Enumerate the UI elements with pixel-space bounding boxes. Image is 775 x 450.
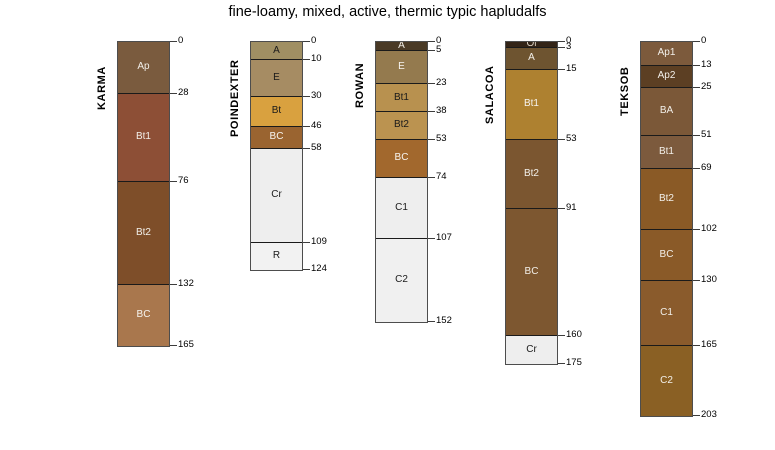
horizon-bt1[interactable]: Bt1	[118, 94, 169, 182]
depth-tick	[303, 59, 310, 60]
depth-label: 30	[311, 90, 322, 101]
depth-label: 25	[701, 81, 712, 92]
depth-tick	[558, 139, 565, 140]
depth-tick	[558, 47, 565, 48]
horizon-bt2[interactable]: Bt2	[641, 169, 692, 230]
depth-tick	[693, 229, 700, 230]
horizon-bt1[interactable]: Bt1	[506, 70, 557, 140]
depth-label: 0	[701, 35, 706, 46]
depth-tick	[693, 345, 700, 346]
depth-label: 23	[436, 77, 447, 88]
horizon-label: C1	[395, 203, 408, 213]
depth-tick	[170, 345, 177, 346]
depth-tick	[693, 415, 700, 416]
horizon-bc[interactable]: BC	[118, 285, 169, 346]
profile-name-label: TEKSOB	[619, 67, 631, 116]
depth-label: 165	[701, 339, 717, 350]
depth-label: 3	[566, 41, 571, 52]
depth-tick	[558, 363, 565, 364]
depth-label: 175	[566, 357, 582, 368]
horizon-label: Ap2	[658, 71, 676, 81]
depth-label: 165	[178, 339, 194, 350]
horizon-label: BC	[270, 132, 284, 142]
horizon-cr[interactable]: Cr	[251, 149, 302, 243]
horizon-label: Bt1	[659, 147, 674, 157]
page-title: fine-loamy, mixed, active, thermic typic…	[0, 4, 775, 20]
horizon-bt2[interactable]: Bt2	[376, 112, 427, 140]
horizon-label: A	[528, 53, 535, 63]
horizon-label: Bt	[272, 106, 281, 116]
depth-tick	[558, 69, 565, 70]
depth-label: 0	[311, 35, 316, 46]
horizon-ap2[interactable]: Ap2	[641, 66, 692, 88]
horizon-c2[interactable]: C2	[376, 239, 427, 322]
depth-tick	[558, 41, 565, 42]
depth-tick	[693, 65, 700, 66]
horizon-bt2[interactable]: Bt2	[118, 182, 169, 285]
depth-tick	[303, 242, 310, 243]
depth-label: 152	[436, 315, 452, 326]
depth-label: 10	[311, 53, 322, 64]
soil-profile-plot: fine-loamy, mixed, active, thermic typic…	[0, 0, 775, 450]
depth-tick	[428, 321, 435, 322]
depth-label: 107	[436, 232, 452, 243]
horizon-e[interactable]: E	[251, 60, 302, 97]
depth-label: 51	[701, 129, 712, 140]
horizon-a[interactable]: A	[506, 48, 557, 70]
horizon-bc[interactable]: BC	[251, 127, 302, 149]
depth-label: 130	[701, 274, 717, 285]
horizon-label: Bt2	[659, 194, 674, 204]
horizon-label: BC	[660, 250, 674, 260]
depth-tick	[558, 335, 565, 336]
horizon-label: Ap1	[658, 48, 676, 58]
horizon-label: BC	[137, 310, 151, 320]
horizon-ba[interactable]: BA	[641, 88, 692, 136]
profile-name-label: POINDEXTER	[229, 59, 241, 137]
depth-label: 160	[566, 329, 582, 340]
depth-tick	[303, 148, 310, 149]
profile-column: OiABt1Bt2BCCr	[505, 41, 558, 365]
depth-label: 102	[701, 223, 717, 234]
depth-tick	[303, 96, 310, 97]
depth-tick	[303, 126, 310, 127]
horizon-c1[interactable]: C1	[376, 178, 427, 239]
depth-label: 132	[178, 278, 194, 289]
horizon-bt2[interactable]: Bt2	[506, 140, 557, 210]
depth-tick	[428, 50, 435, 51]
horizon-bc[interactable]: BC	[641, 230, 692, 282]
depth-tick	[428, 111, 435, 112]
depth-label: 38	[436, 105, 447, 116]
horizon-label: Bt2	[524, 169, 539, 179]
depth-label: 91	[566, 202, 577, 213]
horizon-label: C1	[660, 308, 673, 318]
depth-label: 0	[178, 35, 183, 46]
depth-label: 124	[311, 263, 327, 274]
profile-column: AEBt1Bt2BCC1C2	[375, 41, 428, 323]
horizon-label: R	[273, 251, 280, 261]
depth-label: 46	[311, 120, 322, 131]
horizon-ap[interactable]: Ap	[118, 42, 169, 94]
profile-name-label: ROWAN	[354, 63, 366, 108]
depth-tick	[303, 269, 310, 270]
depth-label: 28	[178, 87, 189, 98]
depth-label: 58	[311, 142, 322, 153]
horizon-label: Ap	[137, 62, 149, 72]
depth-tick	[693, 41, 700, 42]
horizon-label: Cr	[526, 345, 537, 355]
depth-label: 15	[566, 63, 577, 74]
horizon-cr[interactable]: Cr	[506, 336, 557, 364]
depth-label: 13	[701, 59, 712, 70]
depth-tick	[428, 177, 435, 178]
depth-label: 76	[178, 175, 189, 186]
horizon-c2[interactable]: C2	[641, 346, 692, 416]
horizon-label: BC	[395, 153, 409, 163]
depth-label: 69	[701, 162, 712, 173]
horizon-bt1[interactable]: Bt1	[641, 136, 692, 169]
horizon-ap1[interactable]: Ap1	[641, 42, 692, 66]
depth-tick	[428, 41, 435, 42]
profile-name-label: KARMA	[96, 66, 108, 110]
horizon-label: C2	[660, 376, 673, 386]
profile-column: Ap1Ap2BABt1Bt2BCC1C2	[640, 41, 693, 417]
profile-name-label: SALACOA	[484, 65, 496, 124]
horizon-bt[interactable]: Bt	[251, 97, 302, 126]
horizon-label: E	[398, 62, 405, 72]
horizon-label: Bt1	[524, 99, 539, 109]
horizon-r[interactable]: R	[251, 243, 302, 271]
depth-label: 5	[436, 44, 441, 55]
depth-label: 203	[701, 409, 717, 420]
depth-label: 53	[436, 133, 447, 144]
depth-label: 74	[436, 171, 447, 182]
horizon-bc[interactable]: BC	[506, 209, 557, 336]
horizon-label: Bt2	[136, 228, 151, 238]
horizon-label: Cr	[271, 190, 282, 200]
horizon-bc[interactable]: BC	[376, 140, 427, 179]
depth-tick	[170, 181, 177, 182]
depth-label: 109	[311, 236, 327, 247]
horizon-a[interactable]: A	[251, 42, 302, 60]
horizon-label: Bt1	[136, 132, 151, 142]
depth-label: 53	[566, 133, 577, 144]
horizon-a[interactable]: A	[376, 42, 427, 51]
horizon-label: C2	[395, 275, 408, 285]
depth-tick	[558, 208, 565, 209]
depth-tick	[428, 139, 435, 140]
depth-tick	[693, 280, 700, 281]
depth-tick	[693, 135, 700, 136]
horizon-label: A	[273, 46, 280, 56]
depth-tick	[170, 93, 177, 94]
horizon-label: E	[273, 73, 280, 83]
horizon-label: BC	[525, 267, 539, 277]
profile-column: AEBtBCCrR	[250, 41, 303, 271]
horizon-label: Bt2	[394, 120, 409, 130]
horizon-label: BA	[660, 106, 673, 116]
profile-column: ApBt1Bt2BC	[117, 41, 170, 347]
horizon-e[interactable]: E	[376, 51, 427, 84]
depth-tick	[693, 87, 700, 88]
depth-tick	[428, 238, 435, 239]
depth-tick	[428, 83, 435, 84]
horizon-c1[interactable]: C1	[641, 281, 692, 345]
depth-tick	[170, 284, 177, 285]
horizon-bt1[interactable]: Bt1	[376, 84, 427, 112]
horizon-label: A	[398, 42, 405, 51]
depth-tick	[303, 41, 310, 42]
depth-tick	[693, 168, 700, 169]
depth-tick	[170, 41, 177, 42]
horizon-label: Bt1	[394, 93, 409, 103]
